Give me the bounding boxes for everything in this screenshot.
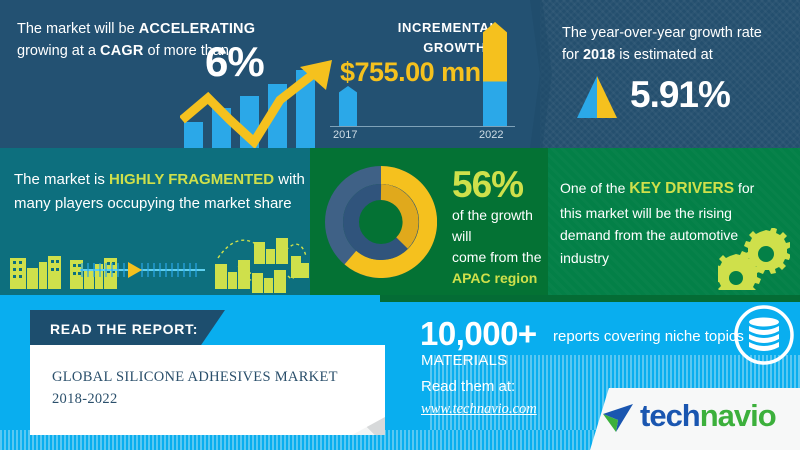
frag-text-c: with: [274, 171, 305, 188]
yoy-text-c: 2018: [583, 47, 615, 63]
footer-green-strip: [380, 295, 800, 302]
frag-text-a: The market is: [14, 171, 109, 188]
incremental-title-line1: INCREMENTAL: [398, 20, 498, 35]
apac-text-b: come from the: [452, 249, 541, 265]
apac-statement: of the growth will come from the APAC re…: [452, 205, 552, 289]
report-title-line2: 2018-2022: [52, 391, 118, 407]
column-2017: [339, 86, 357, 126]
incremental-growth-value: $755.00 mn: [340, 57, 481, 88]
report-title: GLOBAL SILICONE ADHESIVES MARKET 2018-20…: [52, 367, 362, 411]
gears-icon: [718, 228, 790, 290]
drv-text-d: this market will be the rising: [560, 205, 732, 221]
yoy-statement: The year-over-year growth rate for 2018 …: [562, 22, 787, 67]
database-stack-icon: [733, 304, 795, 366]
drv-text-f: industry: [560, 250, 609, 266]
year-label-start: 2017: [333, 129, 357, 141]
cagr-text-d: CAGR: [100, 43, 144, 59]
report-category: MATERIALS: [421, 352, 508, 369]
triangle-up-icon: [575, 76, 619, 118]
yoy-text-b: for: [562, 47, 583, 63]
cagr-text-c: growing at a: [17, 43, 100, 59]
reports-count: 10,000+: [420, 315, 537, 353]
cagr-text-a: The market will be: [17, 21, 139, 37]
drv-text-b: KEY DRIVERS: [629, 180, 734, 197]
column-2022: [483, 22, 507, 126]
year-label-end: 2022: [479, 129, 503, 141]
yoy-value: 5.91%: [630, 74, 730, 116]
reports-caption: reports covering niche topics: [553, 328, 744, 345]
paper-plane-icon: [600, 403, 634, 433]
apac-text-c: APAC region: [452, 270, 537, 286]
fragmented-statement: The market is HIGHLY FRAGMENTED with man…: [14, 168, 306, 216]
incremental-axis-line: [330, 126, 515, 127]
city-buildings-fragmentation-icon: [0, 230, 310, 294]
cagr-text-b: ACCELERATING: [139, 21, 256, 37]
frag-text-b: HIGHLY FRAGMENTED: [109, 171, 274, 188]
drv-text-c: for: [734, 180, 754, 196]
infographic-page: The market will be ACCELERATING growing …: [0, 0, 800, 450]
apac-text-a: of the growth will: [452, 207, 533, 244]
logo-tech: tech: [640, 398, 700, 433]
read-the-report-tab[interactable]: READ THE REPORT:: [30, 310, 225, 350]
drv-text-a: One of the: [560, 180, 629, 196]
cagr-value: 6%: [205, 38, 264, 86]
apac-donut-chart: [325, 166, 437, 278]
incremental-growth-title: INCREMENTAL GROWTH: [338, 18, 498, 57]
donut-inner-apac: [381, 192, 411, 243]
apac-value: 56%: [452, 164, 523, 206]
technavio-wordmark: technavio: [640, 398, 776, 434]
read-the-report-label: READ THE REPORT:: [50, 321, 198, 337]
yoy-text-d: is estimated at: [615, 47, 713, 63]
frag-text-d: many players occupying the market share: [14, 195, 292, 212]
incremental-title-line2: GROWTH: [423, 40, 486, 55]
logo-navio: navio: [700, 398, 776, 433]
read-them-at-label: Read them at:: [421, 378, 515, 395]
technavio-url-link[interactable]: www.technavio.com: [421, 401, 537, 418]
drv-text-e: demand from the automotive: [560, 227, 738, 243]
report-title-line1: GLOBAL SILICONE ADHESIVES MARKET: [52, 369, 338, 385]
report-title-card[interactable]: GLOBAL SILICONE ADHESIVES MARKET 2018-20…: [30, 345, 385, 435]
yoy-text-a: The year-over-year growth rate: [562, 25, 762, 41]
